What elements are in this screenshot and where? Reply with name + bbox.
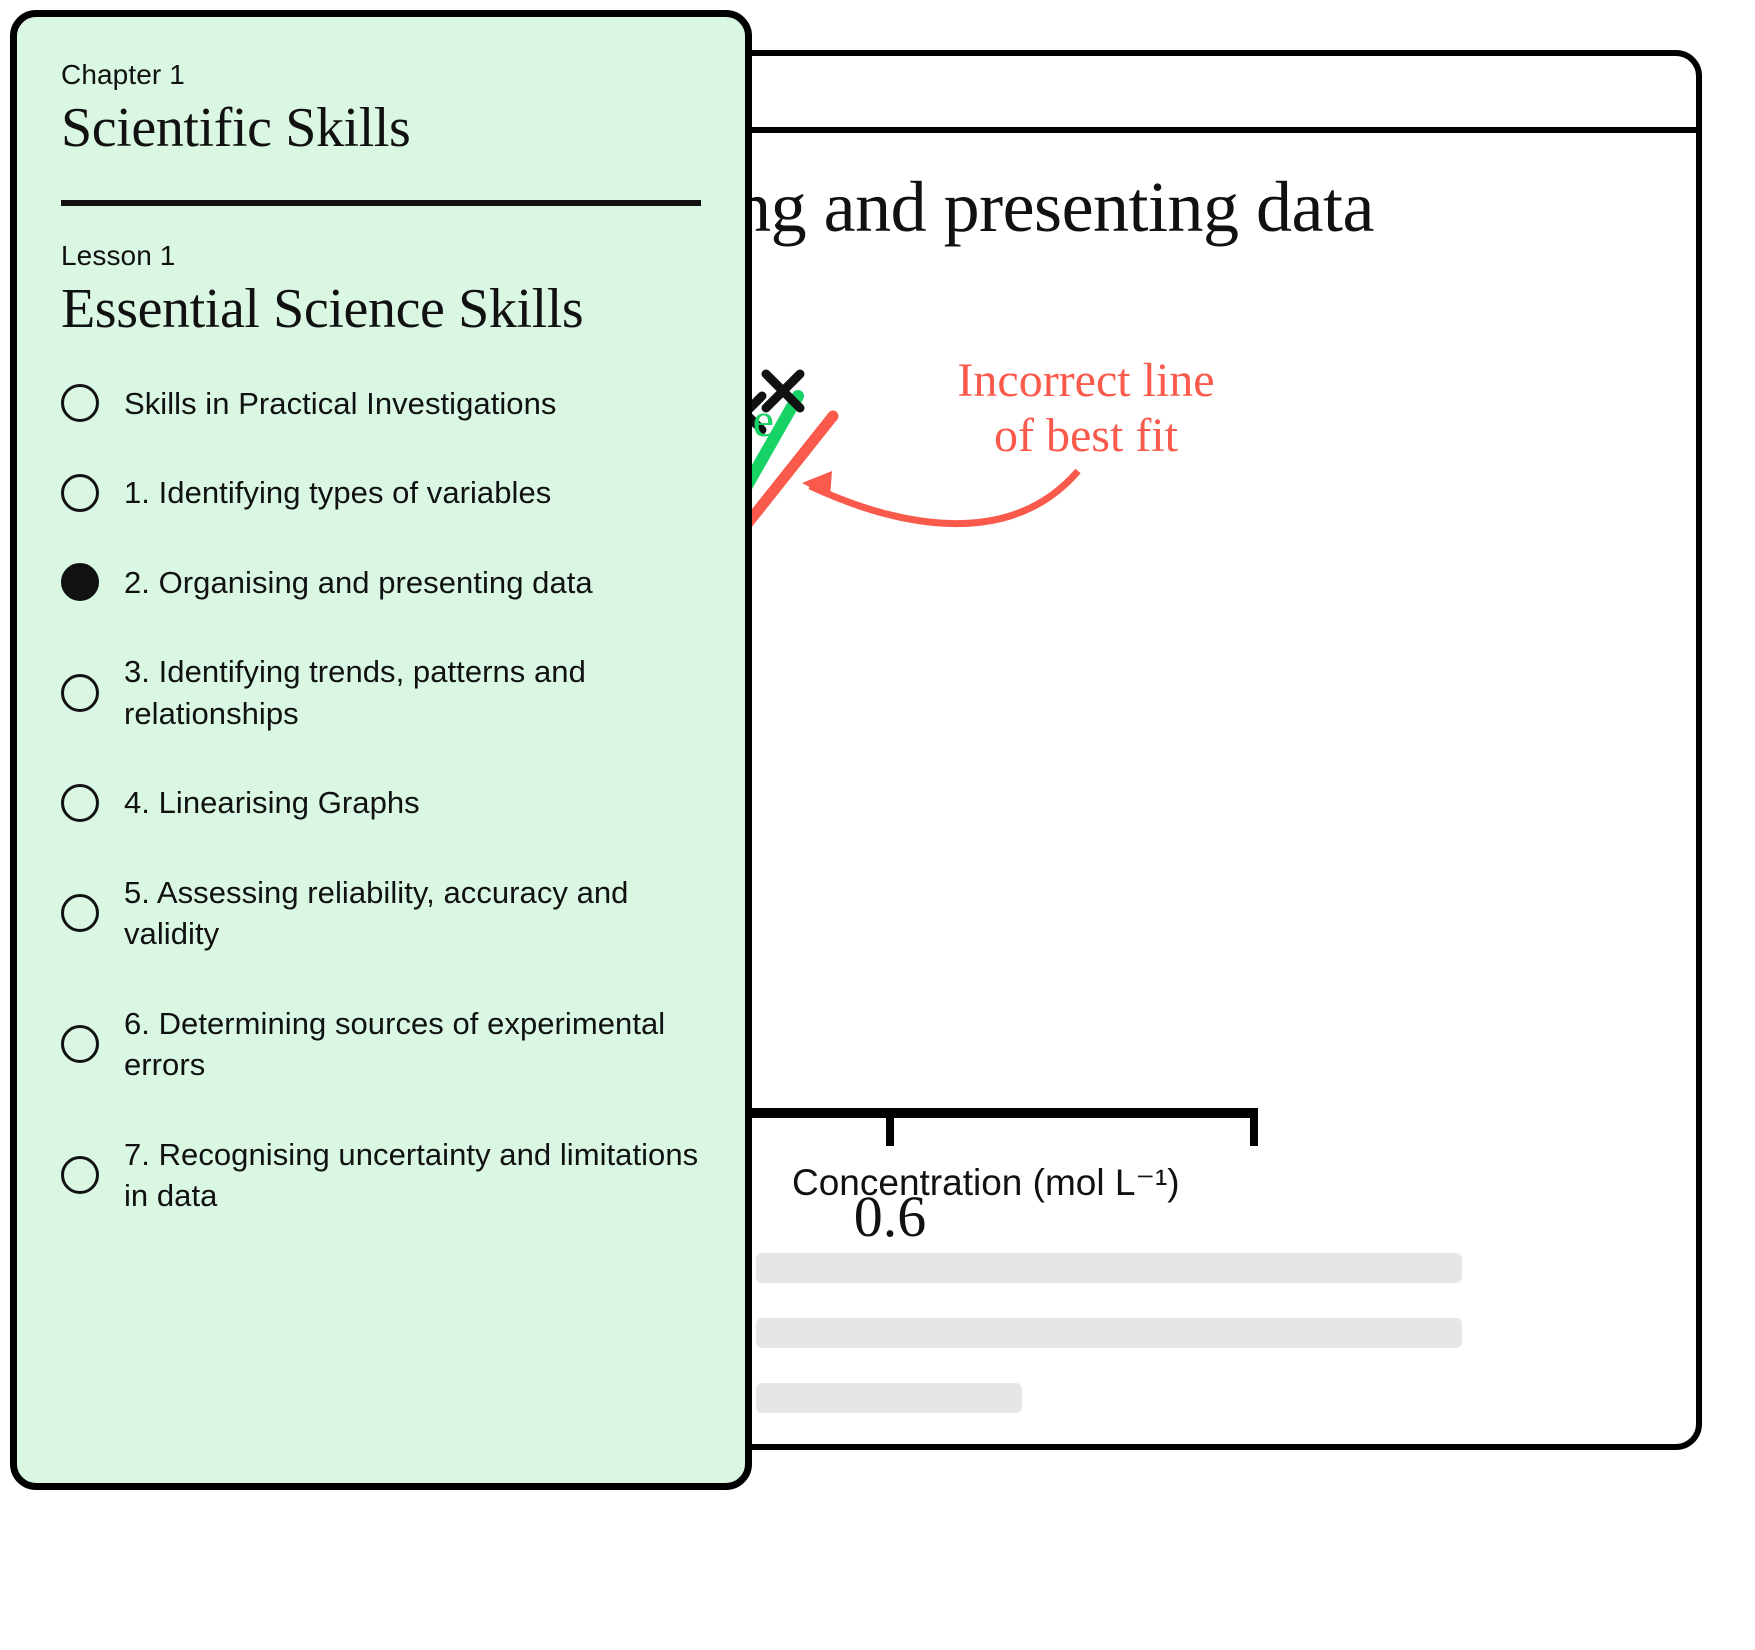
lesson-list-item-1[interactable]: 1. Identifying types of variables (61, 472, 701, 514)
placeholder-text-bar (756, 1383, 1022, 1413)
lesson-item-label: 4. Linearising Graphs (124, 782, 420, 824)
lesson-item-label: 6. Determining sources of experimental e… (124, 1003, 701, 1086)
placeholder-text-bar (756, 1318, 1462, 1348)
chapter-eyebrow: Chapter 1 (61, 59, 701, 91)
lesson-list: Skills in Practical Investigations 1. Id… (61, 383, 701, 1217)
incorrect-line-annotation-line1: Incorrect line (957, 354, 1214, 407)
radio-icon[interactable] (61, 894, 99, 932)
lesson-list-item-7[interactable]: 7. Recognising uncertainty and limitatio… (61, 1134, 701, 1217)
chapter-title: Scientific Skills (61, 99, 701, 158)
lesson-list-item-6[interactable]: 6. Determining sources of experimental e… (61, 1003, 701, 1086)
lesson-item-label: 1. Identifying types of variables (124, 472, 551, 514)
card-divider (61, 200, 701, 206)
lesson-item-label: 5. Assessing reliability, accuracy and v… (124, 872, 701, 955)
lesson-item-label: Skills in Practical Investigations (124, 383, 556, 425)
lesson-list-item-4[interactable]: 4. Linearising Graphs (61, 782, 701, 824)
x-axis-label: Concentration (mol L⁻¹) (792, 1161, 1180, 1204)
lesson-item-label: 3. Identifying trends, patterns and rela… (124, 651, 701, 734)
incorrect-line-arrow (810, 471, 1078, 524)
lesson-list-item-2[interactable]: 2. Organising and presenting data (61, 562, 701, 604)
radio-icon[interactable] (61, 1156, 99, 1194)
incorrect-line-arrowhead (802, 471, 832, 498)
radio-icon[interactable] (61, 784, 99, 822)
lesson-list-item-5[interactable]: 5. Assessing reliability, accuracy and v… (61, 872, 701, 955)
radio-icon[interactable] (61, 674, 99, 712)
placeholder-text-bar (756, 1253, 1462, 1283)
radio-icon[interactable] (61, 384, 99, 422)
incorrect-line-annotation-line2: of best fit (994, 409, 1179, 462)
lesson-navigation-card: Chapter 1 Scientific Skills Lesson 1 Ess… (10, 10, 752, 1490)
lesson-eyebrow: Lesson 1 (61, 240, 701, 272)
lesson-list-item-3[interactable]: 3. Identifying trends, patterns and rela… (61, 651, 701, 734)
lesson-item-label: 7. Recognising uncertainty and limitatio… (124, 1134, 701, 1217)
radio-icon-selected[interactable] (61, 563, 99, 601)
lesson-title: Essential Science Skills (61, 280, 701, 339)
lesson-list-item-0[interactable]: Skills in Practical Investigations (61, 383, 701, 425)
radio-icon[interactable] (61, 474, 99, 512)
radio-icon[interactable] (61, 1025, 99, 1063)
lesson-item-label: 2. Organising and presenting data (124, 562, 593, 604)
